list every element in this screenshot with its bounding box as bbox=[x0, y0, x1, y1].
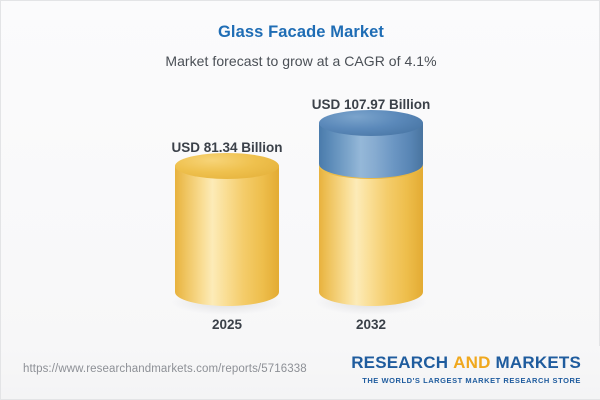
logo-word-markets: MARKETS bbox=[496, 353, 581, 372]
report-url[interactable]: https://www.researchandmarkets.com/repor… bbox=[23, 363, 307, 375]
cylinder-segment-gold-2032[interactable] bbox=[319, 166, 423, 306]
logo-wordmark: RESEARCH AND MARKETS bbox=[351, 354, 581, 373]
cylinder-2025[interactable] bbox=[175, 166, 279, 306]
cylinder-top-blue-2032 bbox=[319, 110, 423, 136]
logo-word-and: AND bbox=[453, 353, 490, 372]
chart-plot-area: USD 81.34 Billion 2025 USD 107.97 Billio… bbox=[1, 1, 600, 346]
chart-card: Glass Facade Market Market forecast to g… bbox=[0, 0, 600, 400]
logo-tagline: THE WORLD'S LARGEST MARKET RESEARCH STOR… bbox=[351, 376, 581, 385]
logo-word-research: RESEARCH bbox=[351, 353, 448, 372]
cylinder-segment-blue-2032[interactable] bbox=[319, 123, 423, 178]
brand-logo[interactable]: RESEARCH AND MARKETS THE WORLD'S LARGEST… bbox=[351, 354, 581, 385]
cylinder-top-gold-2025 bbox=[175, 153, 279, 179]
footer-bar: https://www.researchandmarkets.com/repor… bbox=[1, 346, 600, 399]
cylinder-body-gold-2025 bbox=[175, 166, 279, 306]
cylinder-body-gold-2032 bbox=[319, 166, 423, 306]
bar-category-label-2032: 2032 bbox=[251, 317, 491, 332]
